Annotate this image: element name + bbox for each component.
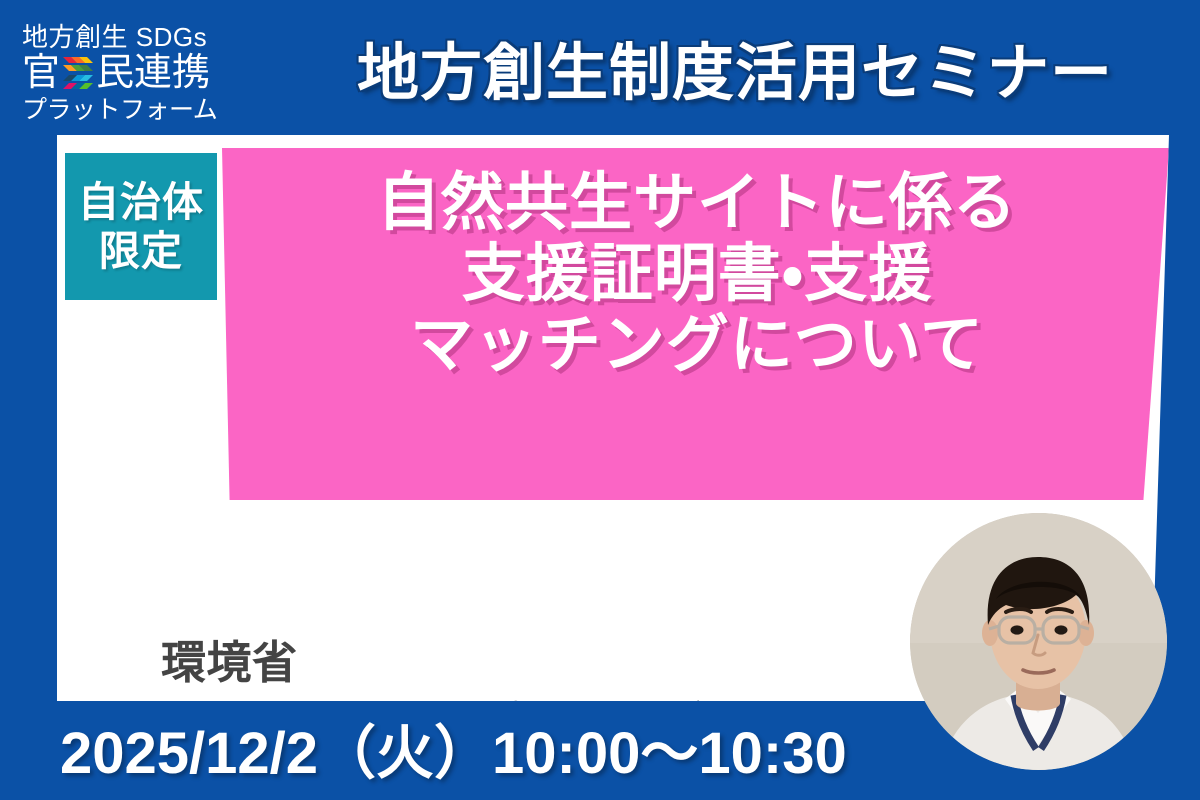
chevrons-logo-mark-icon — [61, 55, 95, 91]
schedule-datetime: 2025/12/2（火）10:00〜10:30 — [60, 706, 940, 790]
topic-banner-text: 自然共生サイトに係る 支援証明書・支援 マッチングについて — [282, 168, 1112, 382]
topic-banner: 自然共生サイトに係る 支援証明書・支援 マッチングについて — [222, 148, 1169, 500]
topic-line-3: マッチングについて — [282, 310, 1112, 381]
page-title: 地方創生制度活用セミナー — [300, 41, 1170, 106]
badge-line-2: 限定 — [99, 227, 183, 275]
logo-line-sdgs: 地方創生 SDGs — [22, 24, 252, 50]
logo-line-platform: プラットフォーム — [22, 98, 252, 123]
platform-logo: 地方創生 SDGs 官 — [22, 24, 252, 123]
badge-line-1: 自治体 — [78, 178, 204, 226]
topic-line-1: 自然共生サイトに係る — [282, 168, 1112, 239]
seminar-poster: 地方創生 SDGs 官 — [0, 0, 1200, 800]
logo-text-kan: 官 — [22, 54, 60, 92]
topic-line-2: 支援証明書・支援 — [282, 239, 1112, 310]
logo-text-minrenkei: 民連携 — [96, 54, 210, 92]
speaker-organization: 環境省 — [161, 632, 921, 694]
status-badge: 自治体 限定 — [65, 153, 217, 300]
logo-line-kanmin: 官 — [22, 54, 252, 92]
avatar — [910, 513, 1167, 770]
